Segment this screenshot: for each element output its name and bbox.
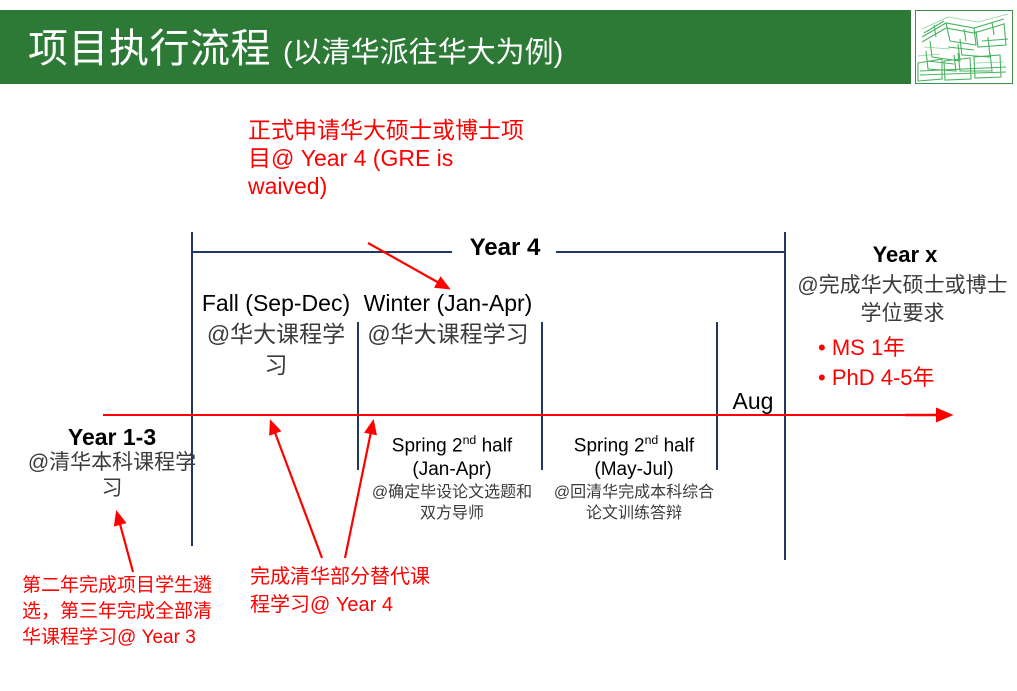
annotation-apply-note: 正式申请华大硕士或博士项目@ Year 4 (GRE is waived) xyxy=(248,116,528,200)
bullet-dot-icon: • xyxy=(818,365,826,390)
axis-tick-right xyxy=(784,232,786,560)
column-winter-detail: @华大课程学习 xyxy=(362,319,534,350)
spring-jan-apr-title-a: Spring 2 xyxy=(392,435,463,456)
aug-label: Aug xyxy=(722,388,784,415)
ordinal-suffix: nd xyxy=(645,433,659,447)
annotation-selection-note: 第二年完成项目学生遴选，第三年完成全部清华课程学习@ Year 3 xyxy=(22,573,212,651)
yearx-bullet-phd: PhD 4-5年 xyxy=(832,365,935,390)
spring-may-jul-title-b: half xyxy=(658,435,694,456)
spring-may-jul-detail: @回清华完成本科综合论文训练答辩 xyxy=(546,482,722,524)
page-title: 项目执行流程 (以清华派往华大为例) xyxy=(28,16,563,74)
list-item: • MS 1年 xyxy=(808,333,1008,363)
column-year-1-3-detail: @清华本科课程学习 xyxy=(22,450,202,502)
column-year-1-3: Year 1-3 @清华本科课程学习 xyxy=(22,424,202,502)
year4-span-line-right xyxy=(556,251,786,253)
axis-tick-mid2 xyxy=(541,322,543,470)
column-winter-title: Winter (Jan-Apr) xyxy=(362,288,534,319)
timeline-axis-line xyxy=(103,414,941,416)
spring-may-jul-title: Spring 2nd half xyxy=(546,428,722,458)
column-fall-title: Fall (Sep-Dec) xyxy=(196,288,356,319)
column-fall-detail: @华大课程学习 xyxy=(196,319,356,381)
column-yearx-bullets: • MS 1年 • PhD 4-5年 xyxy=(808,333,1008,393)
spring-jan-apr-title-b: half xyxy=(476,435,512,456)
spring-jan-apr-title: Spring 2nd half xyxy=(364,428,540,458)
page-title-sub: (以清华派往华大为例) xyxy=(283,29,563,71)
spring-jan-apr-detail: @确定毕设论文选题和双方导师 xyxy=(364,482,540,524)
year4-label: Year 4 xyxy=(450,234,560,262)
column-fall: Fall (Sep-Dec) @华大课程学习 xyxy=(196,288,356,381)
campus-sketch-logo-icon xyxy=(915,10,1013,84)
axis-tick-mid1 xyxy=(357,322,359,470)
spring-may-jul-range: (May-Jul) xyxy=(546,458,722,482)
column-winter: Winter (Jan-Apr) @华大课程学习 xyxy=(362,288,534,350)
ordinal-suffix: nd xyxy=(463,433,477,447)
column-yearx-title: Year x xyxy=(800,242,1010,268)
spring-jan-apr-range: (Jan-Apr) xyxy=(364,458,540,482)
block-spring-jan-apr: Spring 2nd half (Jan-Apr) @确定毕设论文选题和双方导师 xyxy=(364,428,540,524)
slide-canvas: 项目执行流程 (以清华派往华大为例) xyxy=(0,0,1017,691)
bullet-dot-icon: • xyxy=(818,335,826,360)
spring-may-jul-title-a: Spring 2 xyxy=(574,435,645,456)
list-item: • PhD 4-5年 xyxy=(808,363,1008,393)
page-title-main: 项目执行流程 xyxy=(28,16,271,74)
year4-span-line-left xyxy=(191,251,452,253)
column-year-1-3-title: Year 1-3 xyxy=(22,424,202,450)
yearx-bullet-ms: MS 1年 xyxy=(832,335,905,360)
annotation-replacement-note: 完成清华部分替代课程学习@ Year 4 xyxy=(250,563,430,619)
block-spring-may-jul: Spring 2nd half (May-Jul) @回清华完成本科综合论文训练… xyxy=(546,428,722,524)
column-yearx-detail: @完成华大硕士或博士学位要求 xyxy=(790,272,1015,328)
